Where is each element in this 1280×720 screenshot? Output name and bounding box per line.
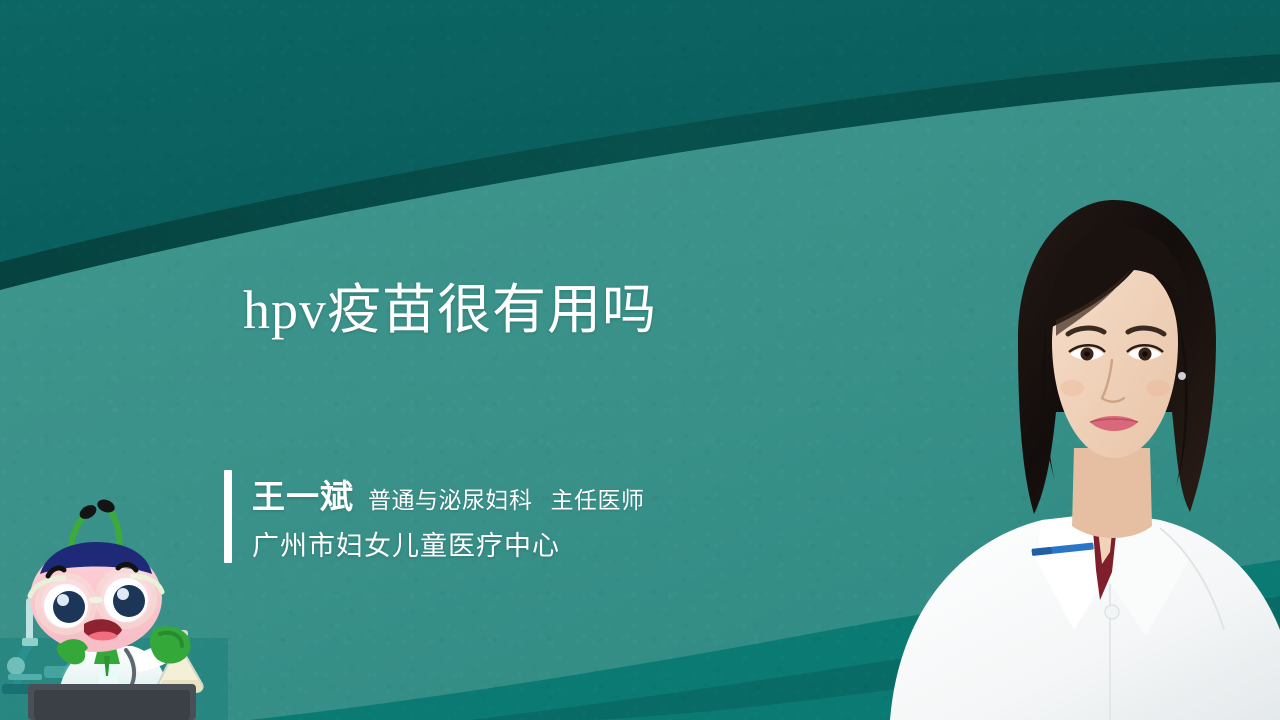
- slide-canvas: hpv疫苗很有用吗 王一斌 普通与泌尿妇科 主任医师 广州市妇女儿童医疗中心: [0, 0, 1280, 720]
- monitor-icon: [28, 684, 196, 720]
- doctor-primary-line: 王一斌 普通与泌尿妇科 主任医师: [252, 470, 645, 518]
- doctor-department: 普通与泌尿妇科: [368, 481, 533, 515]
- mascot-illustration: [0, 488, 228, 720]
- doctor-rank: 主任医师: [551, 481, 645, 515]
- doctor-info-lines: 王一斌 普通与泌尿妇科 主任医师 广州市妇女儿童医疗中心: [252, 470, 645, 563]
- doctor-info-block: 王一斌 普通与泌尿妇科 主任医师 广州市妇女儿童医疗中心: [224, 470, 645, 563]
- doctor-name: 王一斌: [252, 470, 354, 518]
- page-title: hpv疫苗很有用吗: [243, 281, 657, 340]
- doctor-photo: [860, 160, 1280, 720]
- doctor-hospital: 广州市妇女儿童医疗中心: [252, 524, 645, 563]
